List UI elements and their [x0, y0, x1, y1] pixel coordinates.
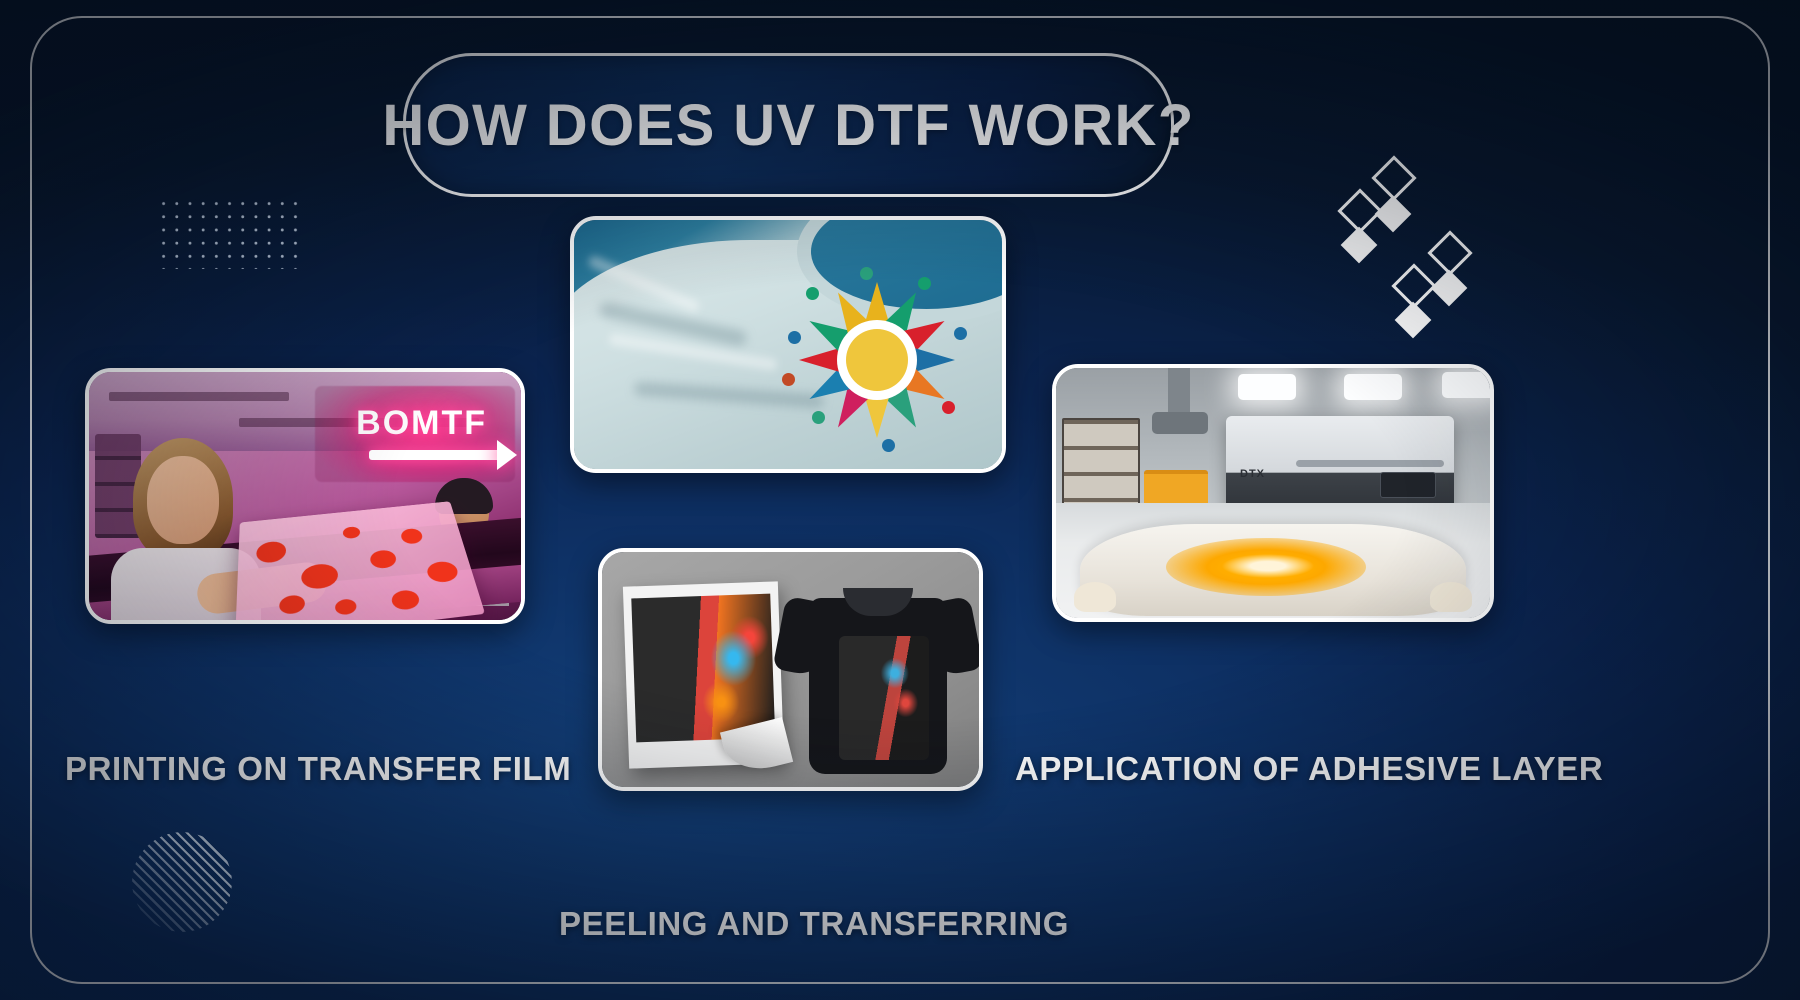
diamond-filled-icon: [1341, 227, 1378, 264]
caption-peeling: PEELING AND TRANSFERRING: [559, 905, 1069, 943]
ink-dot: [390, 589, 421, 611]
diamond-filled-icon: [1431, 270, 1468, 307]
printer-brand-label: DTX: [1240, 468, 1265, 480]
ceiling-duct-elbow: [1152, 412, 1208, 434]
neon-arrow-icon: [369, 450, 501, 460]
diamond-cluster-decoration: [1330, 160, 1550, 320]
infographic-canvas: HOW DOES UV DTF WORK? BOMTF: [0, 0, 1800, 1000]
step-card-design[interactable]: [570, 216, 1006, 473]
step-card-printing[interactable]: BOMTF: [85, 368, 525, 624]
mandala-dot: [942, 401, 955, 414]
ink-dot: [256, 540, 286, 564]
diamond-outline-icon: [1427, 230, 1472, 275]
garment-edge: [1430, 582, 1472, 612]
page-title-pill: HOW DOES UV DTF WORK?: [403, 53, 1174, 197]
mandala-dot: [954, 327, 967, 340]
garment-edge: [1074, 582, 1116, 612]
ceiling-beam: [109, 392, 289, 401]
caption-adhesive: APPLICATION OF ADHESIVE LAYER: [1015, 750, 1603, 788]
ink-dot: [279, 594, 305, 615]
diamond-filled-icon: [1395, 302, 1432, 339]
step-card-adhesive[interactable]: DTX: [1052, 364, 1494, 622]
mandala-dot: [860, 267, 873, 280]
printer-rail: [1296, 460, 1444, 467]
dot-grid-decoration: [157, 197, 305, 269]
ceiling-light: [1442, 372, 1490, 398]
step-card-peeling[interactable]: [598, 548, 983, 791]
mandala-dot: [812, 411, 825, 424]
printing-photo: BOMTF: [89, 372, 521, 620]
black-tshirt: [783, 574, 973, 774]
ink-dot: [425, 560, 460, 583]
ink-dot: [400, 528, 424, 545]
page-title: HOW DOES UV DTF WORK?: [382, 92, 1194, 159]
operator-head: [147, 456, 219, 544]
printed-artwork: [631, 594, 775, 743]
peeling-photo: [602, 552, 979, 787]
caption-printing: PRINTING ON TRANSFER FILM: [65, 750, 571, 788]
mandala-dot: [882, 439, 895, 452]
mandala-print-design: [786, 269, 968, 451]
transfer-sheet: [623, 581, 784, 768]
transfer-film-sheet: [235, 501, 485, 620]
transferred-artwork: [839, 636, 929, 760]
ink-dot: [334, 598, 357, 616]
ceiling-duct: [1168, 368, 1190, 418]
ceiling-light: [1344, 374, 1402, 400]
ink-dot: [369, 549, 398, 569]
mandala-dot: [788, 331, 801, 344]
mandala-dot: [918, 277, 931, 290]
printer-screen: [1380, 472, 1436, 498]
diamond-filled-icon: [1375, 196, 1412, 233]
mandala-dot: [806, 287, 819, 300]
striped-circle-decoration: [132, 832, 232, 932]
ceiling-light: [1238, 374, 1296, 400]
ink-dot: [301, 562, 340, 590]
diamond-outline-icon: [1371, 155, 1416, 200]
mandala-dot: [782, 373, 795, 386]
mandala-core: [846, 329, 908, 391]
design-photo: [574, 220, 1002, 469]
ink-dot: [342, 526, 361, 539]
adhesive-photo: DTX: [1056, 368, 1490, 618]
neon-sign-text: BOMTF: [356, 404, 487, 443]
powder-highlight: [1222, 554, 1314, 578]
